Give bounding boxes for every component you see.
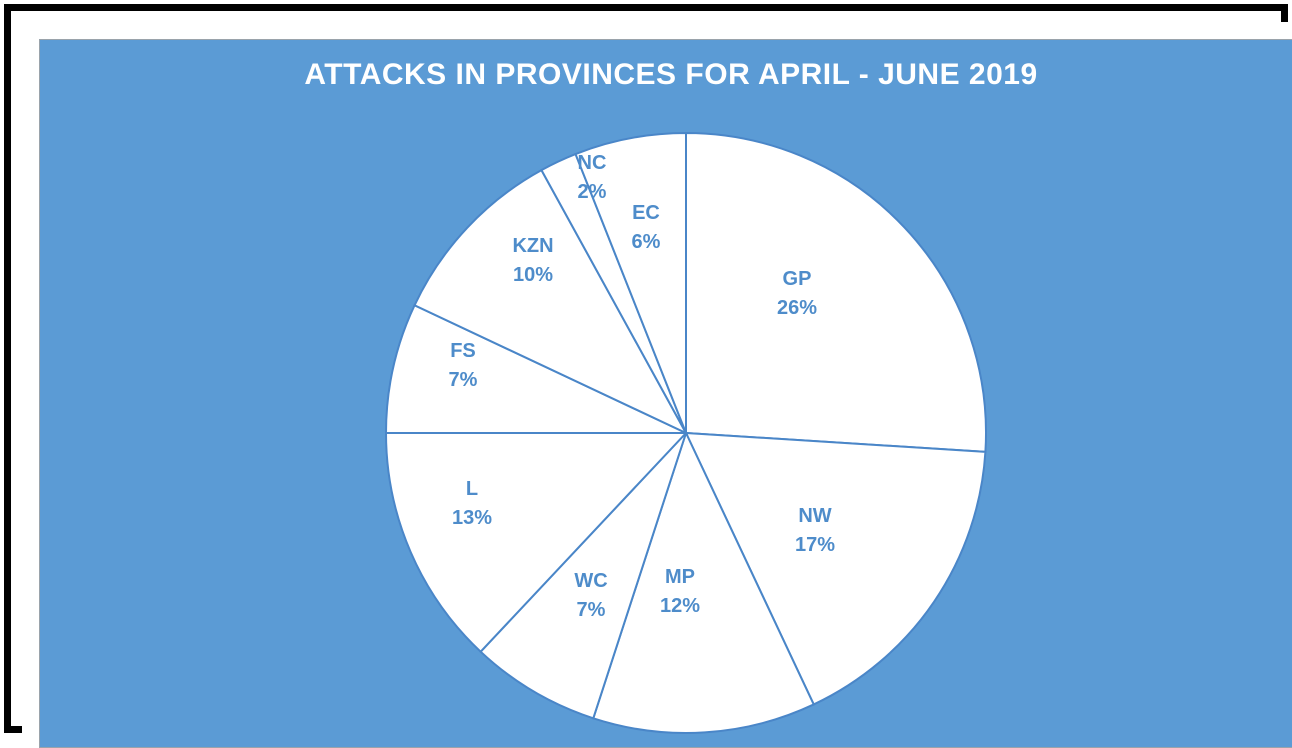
inner-white-gap: ATTACKS IN PROVINCES FOR APRIL - JUNE 20… <box>22 22 1292 737</box>
pie-slice-gp[interactable] <box>686 133 986 452</box>
pie-label-name: NC <box>578 149 607 178</box>
pie-label-value: 7% <box>574 596 607 625</box>
pie-label-value: 6% <box>632 228 661 257</box>
pie-label-value: 12% <box>660 592 700 621</box>
pie-label-value: 10% <box>512 261 553 290</box>
pie-label-gp: GP26% <box>777 265 817 323</box>
pie-label-kzn: KZN10% <box>512 232 553 290</box>
pie-label-name: L <box>452 475 492 504</box>
pie-label-name: GP <box>777 265 817 294</box>
pie-label-nc: NC2% <box>578 149 607 207</box>
pie-label-name: KZN <box>512 232 553 261</box>
outer-black-frame: ATTACKS IN PROVINCES FOR APRIL - JUNE 20… <box>4 4 1288 733</box>
pie-label-ec: EC6% <box>632 199 661 257</box>
pie-chart-svg <box>40 40 1292 747</box>
pie-label-nw: NW17% <box>795 502 835 560</box>
pie-label-value: 7% <box>449 366 478 395</box>
pie-label-value: 2% <box>578 178 607 207</box>
pie-slice-group <box>386 133 986 733</box>
pie-label-value: 26% <box>777 294 817 323</box>
pie-label-name: NW <box>795 502 835 531</box>
pie-label-value: 13% <box>452 504 492 533</box>
pie-label-value: 17% <box>795 531 835 560</box>
pie-label-name: FS <box>449 337 478 366</box>
pie-label-wc: WC7% <box>574 567 607 625</box>
pie-label-fs: FS7% <box>449 337 478 395</box>
pie-label-l: L13% <box>452 475 492 533</box>
page-canvas: ATTACKS IN PROVINCES FOR APRIL - JUNE 20… <box>0 0 1292 737</box>
pie-label-name: EC <box>632 199 661 228</box>
pie-chart-area: ATTACKS IN PROVINCES FOR APRIL - JUNE 20… <box>40 40 1292 747</box>
inner-hairline-border: ATTACKS IN PROVINCES FOR APRIL - JUNE 20… <box>39 39 1292 748</box>
pie-label-mp: MP12% <box>660 563 700 621</box>
pie-label-name: MP <box>660 563 700 592</box>
pie-label-name: WC <box>574 567 607 596</box>
